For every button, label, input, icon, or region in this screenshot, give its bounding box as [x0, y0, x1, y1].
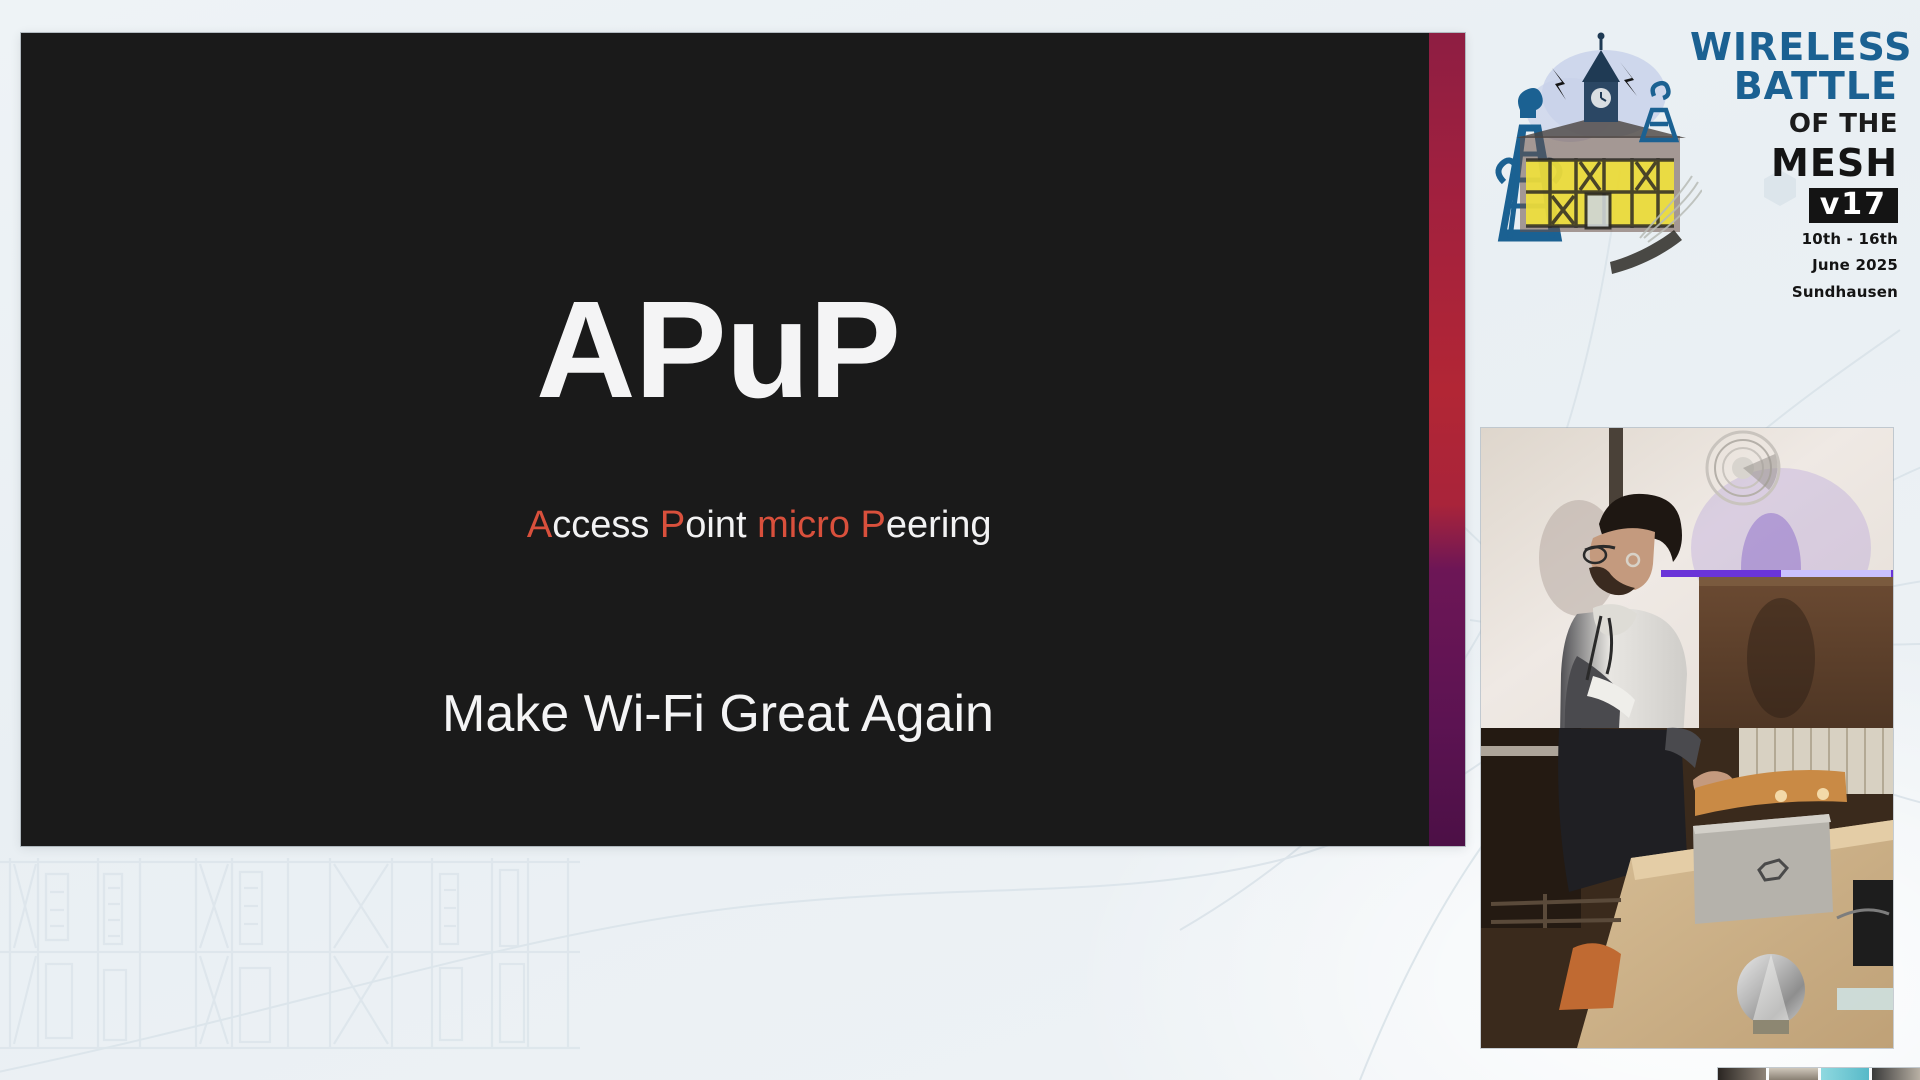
slide-title: APuP [21, 281, 1429, 419]
event-logo: WIRELESS BATTLE OF THE MESH v17 10th - 1… [1492, 24, 1900, 302]
subtitle-part-4: micro [757, 504, 860, 546]
thumbnail-strip[interactable] [1718, 1068, 1920, 1080]
logo-line-wireless: WIRELESS [1690, 28, 1898, 66]
thumbnail-cell[interactable] [1718, 1068, 1766, 1080]
logo-text-block: WIRELESS BATTLE OF THE MESH v17 10th - 1… [1690, 28, 1898, 302]
logo-line-of-the: OF THE [1690, 107, 1898, 142]
speaker-video-feed[interactable] [1481, 428, 1893, 1048]
subtitle-part-6: eering [886, 504, 992, 546]
slide-subtitle: Access Point micro Peering [21, 461, 1429, 590]
thumbnail-cell[interactable] [1769, 1068, 1817, 1080]
presentation-slide[interactable]: APuP Access Point micro Peering Make Wi-… [21, 33, 1465, 846]
townhall-radio-mast-icon [1492, 32, 1702, 294]
thumbnail-cell[interactable] [1821, 1068, 1869, 1080]
logo-line-battle: BATTLE [1690, 66, 1898, 107]
slide-accent-bar [1429, 33, 1465, 846]
subtitle-part-2: P [660, 504, 685, 546]
slide-content: APuP Access Point micro Peering Make Wi-… [21, 33, 1429, 846]
subtitle-part-3: oint [685, 504, 757, 546]
screen: APuP Access Point micro Peering Make Wi-… [0, 0, 1920, 1080]
subtitle-part-0: A [527, 504, 552, 546]
subtitle-part-1: ccess [552, 504, 660, 546]
logo-location: Sundhausen [1690, 283, 1898, 302]
video-frame [1481, 428, 1893, 1048]
thumbnail-cell[interactable] [1872, 1068, 1920, 1080]
logo-date-range: 10th - 16th [1690, 230, 1898, 249]
subtitle-part-5: P [861, 504, 886, 546]
logo-version-badge: v17 [1809, 188, 1898, 224]
logo-line-mesh: MESH [1690, 142, 1898, 185]
slide-tagline: Make Wi-Fi Great Again [21, 684, 1429, 744]
logo-date-month: June 2025 [1690, 256, 1898, 275]
